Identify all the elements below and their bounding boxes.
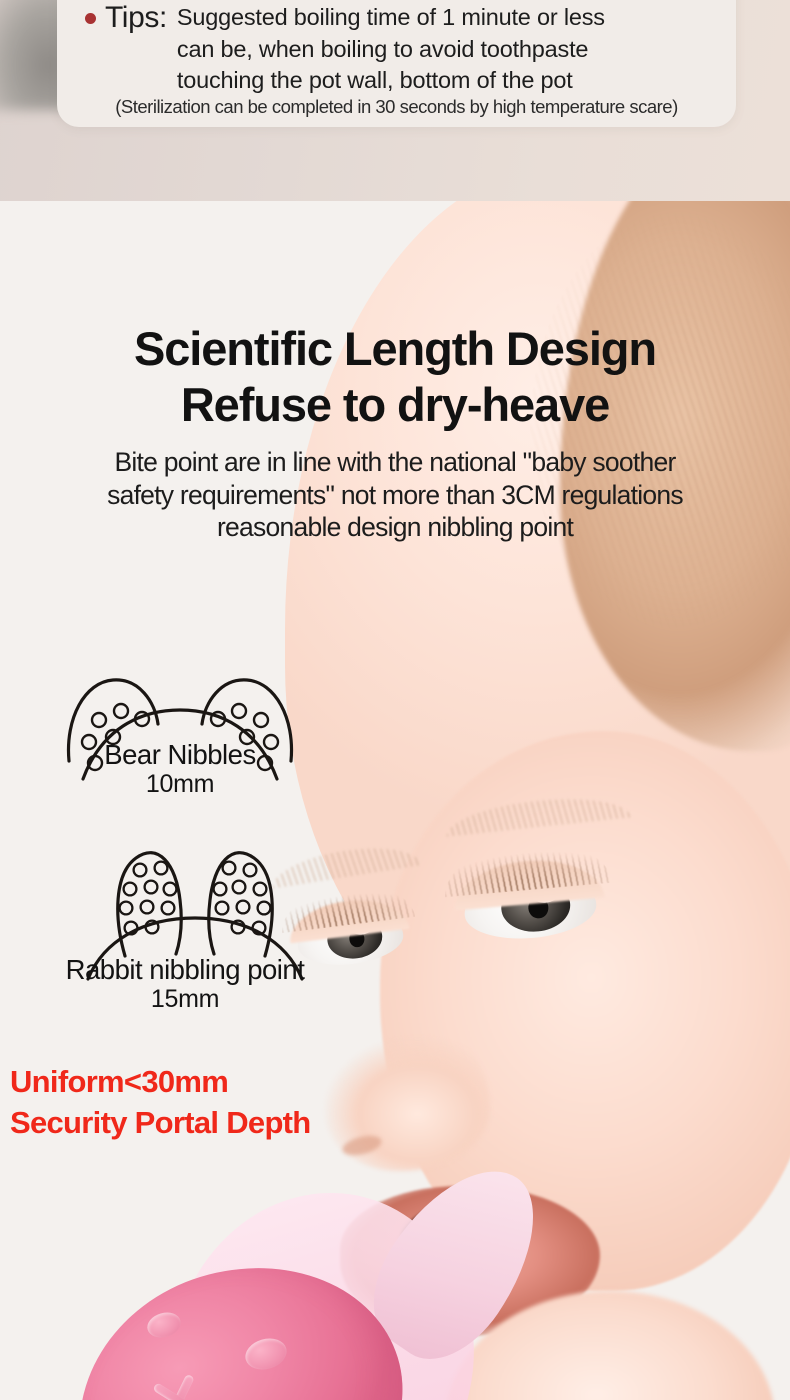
main-section: Scientific Length Design Refuse to dry-h…: [0, 201, 790, 1400]
rabbit-caption: Rabbit nibbling point 15mm: [0, 954, 380, 1014]
bear-caption: Bear Nibbles 10mm: [0, 739, 360, 799]
tips-line-1: Suggested boiling time of 1 minute or le…: [177, 2, 605, 34]
rabbit-caption-size: 15mm: [0, 985, 380, 1014]
tips-note: (Sterilization can be completed in 30 se…: [57, 96, 736, 118]
bear-caption-size: 10mm: [0, 770, 360, 799]
safety-callout: Uniform<30mm Security Portal Depth: [10, 1061, 311, 1143]
product-detail-page: Tips: Suggested boiling time of 1 minute…: [0, 0, 790, 1400]
callout-line-1: Uniform<30mm: [10, 1061, 311, 1102]
tips-text: Suggested boiling time of 1 minute or le…: [177, 2, 605, 97]
page-subtitle: Bite point are in line with the national…: [0, 446, 790, 544]
baby-eye-right: [452, 855, 609, 954]
tips-row: Tips: Suggested boiling time of 1 minute…: [85, 2, 715, 97]
pink-silicone-baby-toothbrush: [95, 1191, 575, 1400]
bear-caption-title: Bear Nibbles: [0, 739, 360, 770]
tips-card: Tips: Suggested boiling time of 1 minute…: [57, 0, 736, 127]
title-line-2: Refuse to dry-heave: [0, 377, 790, 433]
rabbit-caption-title: Rabbit nibbling point: [0, 954, 380, 985]
tips-label: Tips:: [105, 2, 167, 33]
bullet-dot-icon: [85, 13, 96, 24]
callout-line-2: Security Portal Depth: [10, 1102, 311, 1143]
tips-line-2: can be, when boiling to avoid toothpaste: [177, 34, 605, 66]
subtitle-line-1: Bite point are in line with the national…: [0, 446, 790, 479]
title-line-1: Scientific Length Design: [134, 322, 656, 375]
page-title: Scientific Length Design Refuse to dry-h…: [0, 321, 790, 433]
tips-band: Tips: Suggested boiling time of 1 minute…: [0, 0, 790, 201]
subtitle-line-3: reasonable design nibbling point: [0, 511, 790, 544]
subtitle-line-2: safety requirements" not more than 3CM r…: [0, 479, 790, 512]
tips-line-3: touching the pot wall, bottom of the pot: [177, 65, 605, 97]
